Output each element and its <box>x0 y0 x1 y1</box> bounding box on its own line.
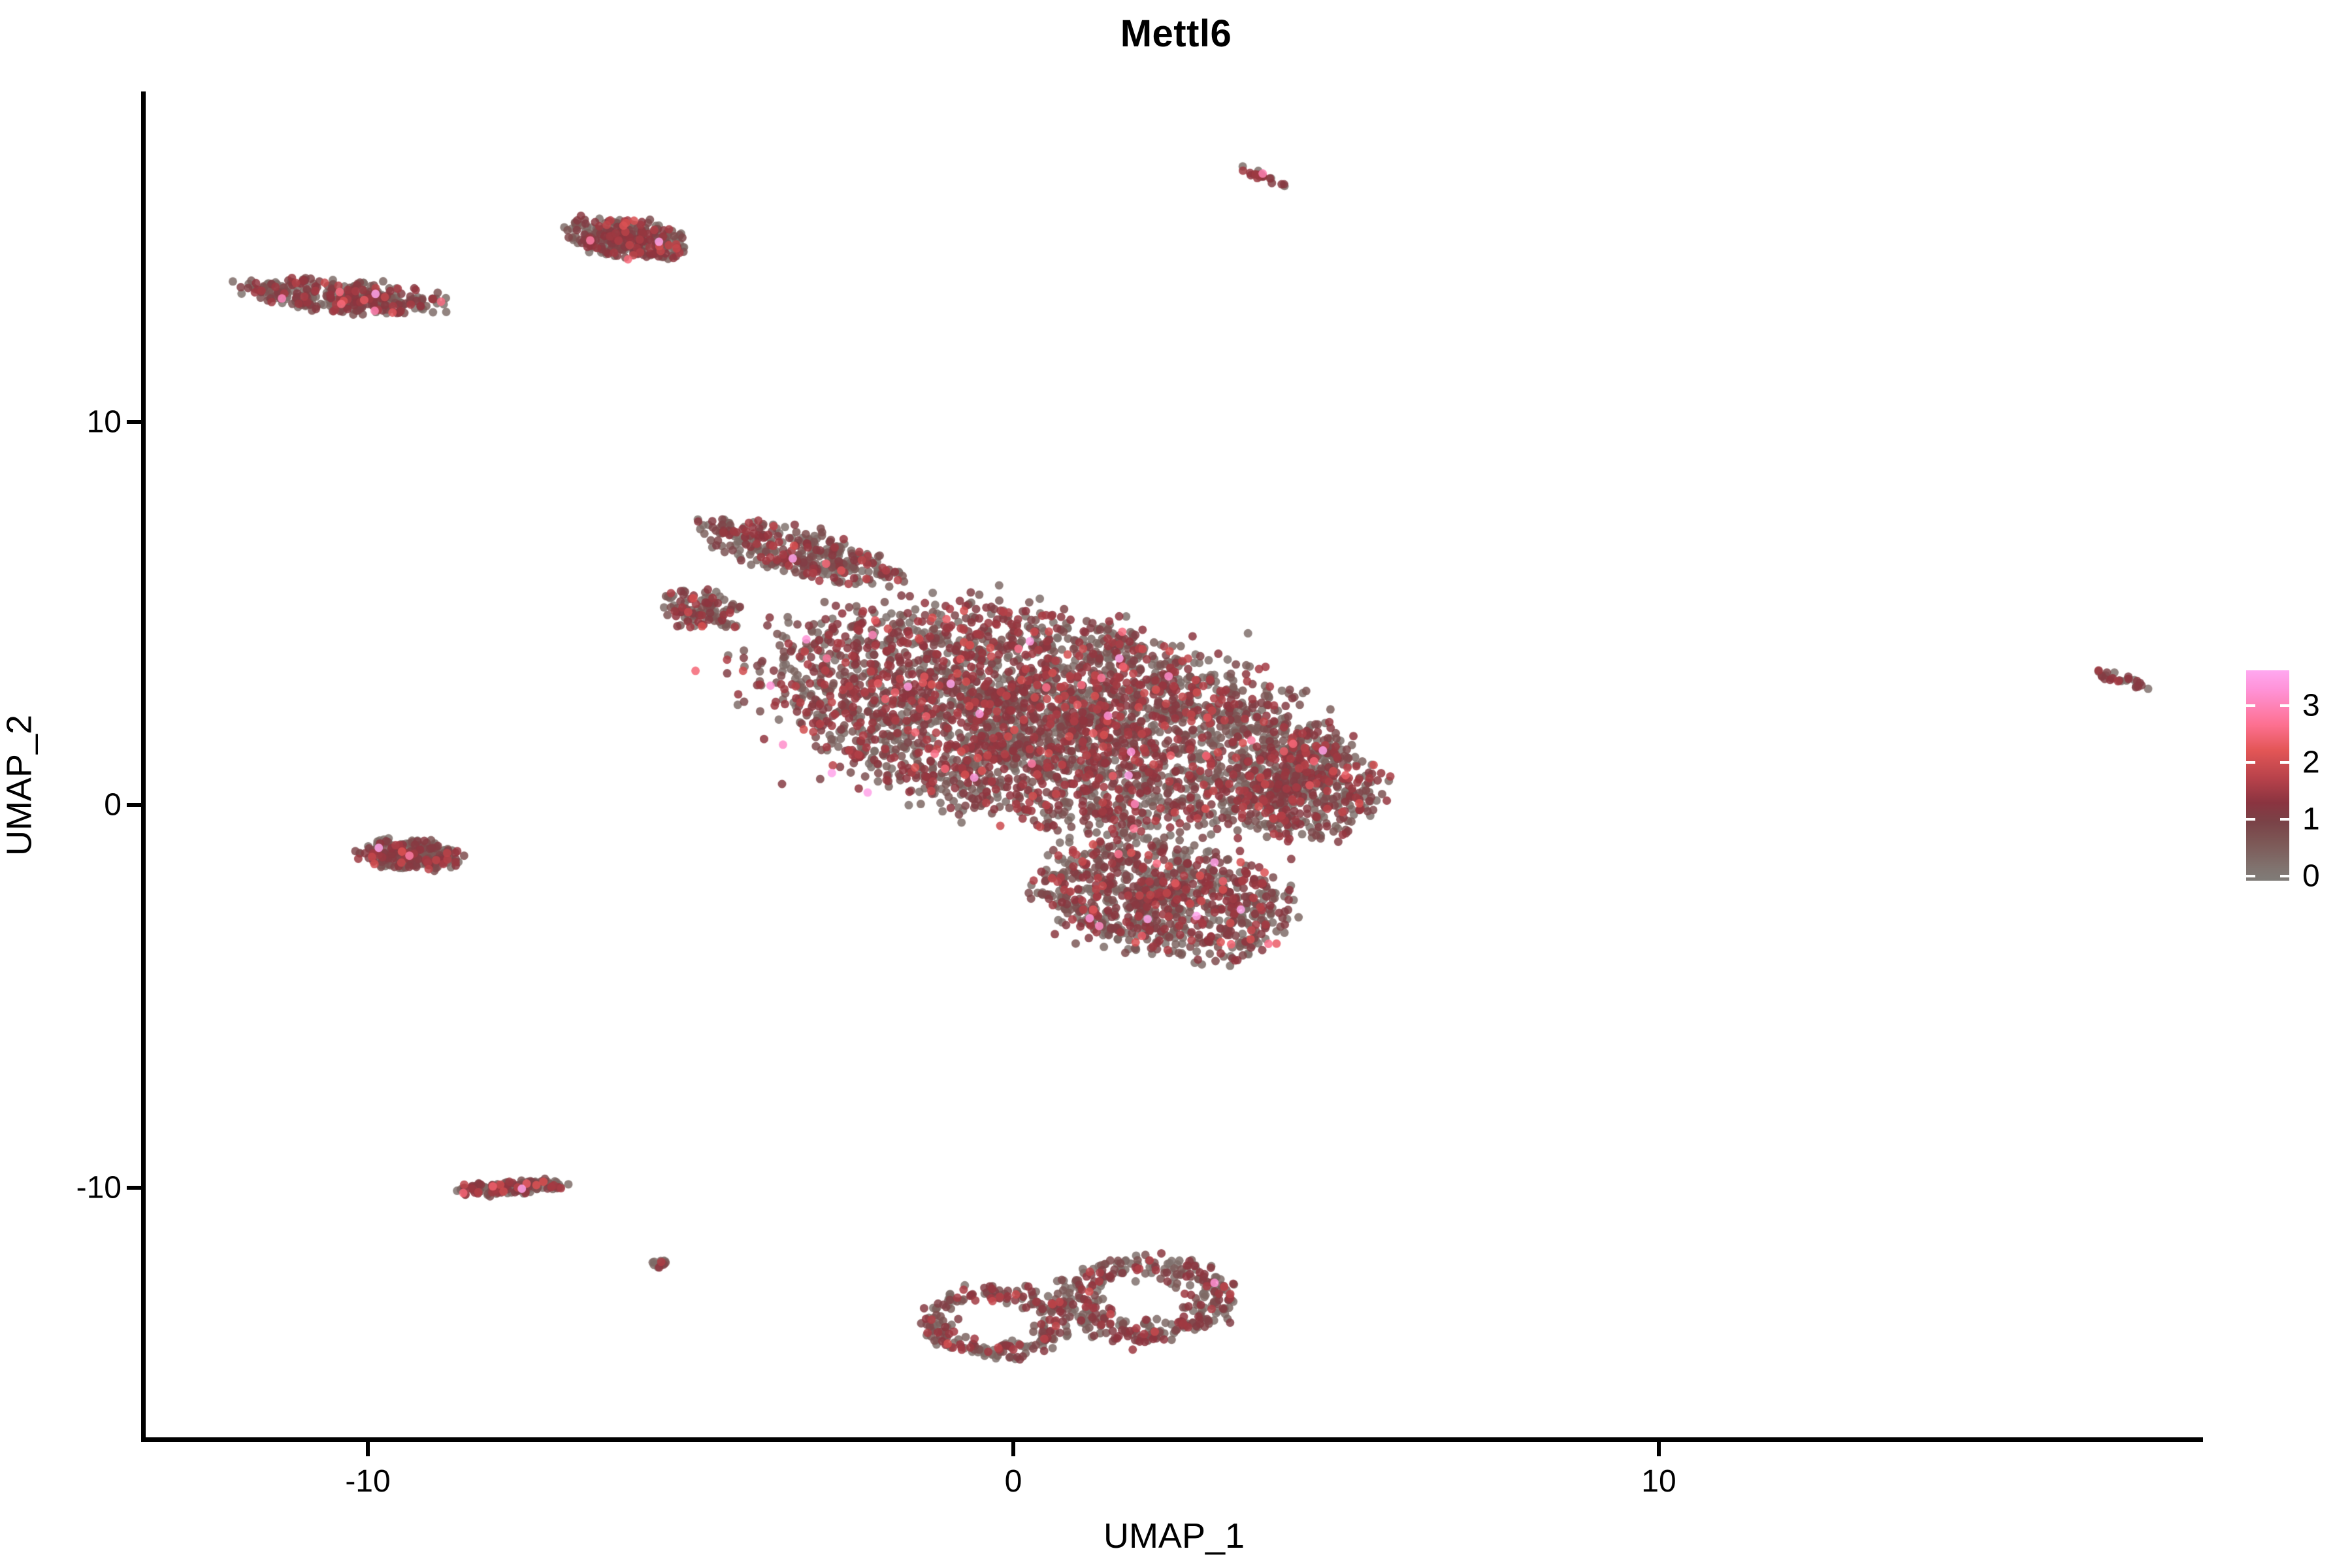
colorbar-tick-0-left <box>2246 875 2255 877</box>
y-tick-label-0: 0 <box>104 787 122 823</box>
page-title: Mettl6 <box>0 12 2352 56</box>
colorbar-label-3: 3 <box>2302 688 2320 724</box>
x-tick-label-neg10: -10 <box>345 1463 390 1499</box>
colorbar-legend: 3 2 1 0 <box>2246 670 2338 882</box>
colorbar-tick-2-right <box>2280 761 2289 764</box>
x-tick-label-10: 10 <box>1641 1463 1676 1499</box>
y-axis-title: UMAP_2 <box>0 112 40 1460</box>
colorbar-tick-3-right <box>2280 704 2289 707</box>
y-tick-neg10 <box>127 1186 141 1190</box>
x-axis-title: UMAP_1 <box>145 1516 2203 1556</box>
colorbar-tick-1-right <box>2280 818 2289 821</box>
scatter-plot-canvas <box>145 91 2203 1439</box>
colorbar-tick-3-left <box>2246 704 2255 707</box>
y-tick-label-neg10: -10 <box>76 1170 122 1206</box>
x-tick-0 <box>1011 1442 1015 1456</box>
colorbar-label-2: 2 <box>2302 745 2320 781</box>
figure-root: Mettl6 10 0 -10 -10 0 10 UMAP_1 UMAP_2 3… <box>0 0 2352 1568</box>
colorbar-tick-0-right <box>2280 875 2289 877</box>
colorbar-gradient <box>2246 670 2289 881</box>
x-tick-10 <box>1657 1442 1661 1456</box>
colorbar-label-1: 1 <box>2302 802 2320 838</box>
x-tick-neg10 <box>366 1442 370 1456</box>
colorbar-tick-1-left <box>2246 818 2255 821</box>
y-tick-10 <box>127 420 141 424</box>
y-tick-0 <box>127 803 141 807</box>
x-axis-line <box>141 1437 2203 1442</box>
colorbar-tick-2-left <box>2246 761 2255 764</box>
y-axis-line <box>141 91 146 1441</box>
colorbar-label-0: 0 <box>2302 858 2320 894</box>
y-tick-label-10: 10 <box>87 404 122 440</box>
x-tick-label-0: 0 <box>1005 1463 1022 1499</box>
plot-panel <box>145 91 2203 1439</box>
